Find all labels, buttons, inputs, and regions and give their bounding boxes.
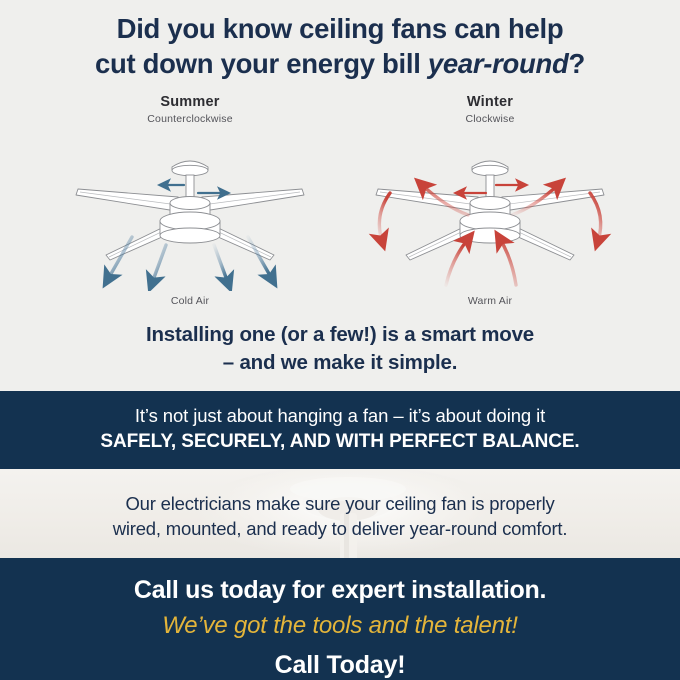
cta-line-2: We’ve got the tools and the talent! xyxy=(0,610,680,641)
subheadline: Installing one (or a few!) is a smart mo… xyxy=(0,321,680,376)
winter-title: Winter xyxy=(340,94,640,110)
safety-band: It’s not just about hanging a fan – it’s… xyxy=(0,391,680,469)
summer-title: Summer xyxy=(40,94,340,110)
photo-section-text: Our electricians make sure your ceiling … xyxy=(0,469,680,542)
headline-line-2: cut down your energy bill year-round? xyxy=(26,47,654,82)
cta-line-1: Call us today for expert installation. xyxy=(0,575,680,606)
headline-emphasis: year-round xyxy=(428,48,569,79)
winter-fan-illustration xyxy=(340,131,640,291)
page-title: Did you know ceiling fans can help cut d… xyxy=(0,8,680,82)
subheadline-line-1: Installing one (or a few!) is a smart mo… xyxy=(40,321,640,349)
safety-band-line-2: SAFELY, SECURELY, AND WITH PERFECT BALAN… xyxy=(18,430,662,455)
photo-section: Our electricians make sure your ceiling … xyxy=(0,469,680,558)
winter-footer-label: Warm Air xyxy=(340,295,640,307)
photo-text-line-2: wired, mounted, and ready to deliver yea… xyxy=(0,517,680,542)
subheadline-line-2: – and we make it simple. xyxy=(40,349,640,377)
call-today-button[interactable]: Call Today! xyxy=(0,651,680,680)
top-section: Did you know ceiling fans can help cut d… xyxy=(0,0,680,376)
summer-subtitle: Counterclockwise xyxy=(40,113,340,125)
winter-subtitle: Clockwise xyxy=(340,113,640,125)
fan-direction-diagrams: Summer Counterclockwise xyxy=(0,94,680,307)
summer-diagram: Summer Counterclockwise xyxy=(40,94,340,307)
headline-line-2-post: ? xyxy=(569,48,586,79)
summer-fan-illustration xyxy=(40,131,340,291)
cta-section: Call us today for expert installation. W… xyxy=(0,558,680,680)
ceiling-fan-icon xyxy=(360,131,620,291)
summer-footer-label: Cold Air xyxy=(40,295,340,307)
infographic-poster: Did you know ceiling fans can help cut d… xyxy=(0,0,680,680)
safety-band-line-1: It’s not just about hanging a fan – it’s… xyxy=(18,404,662,428)
headline-line-1: Did you know ceiling fans can help xyxy=(26,12,654,47)
headline-line-2-pre: cut down your energy bill xyxy=(95,48,428,79)
winter-diagram: Winter Clockwise xyxy=(340,94,640,307)
ceiling-fan-icon xyxy=(60,131,320,291)
photo-text-line-1: Our electricians make sure your ceiling … xyxy=(0,492,680,517)
